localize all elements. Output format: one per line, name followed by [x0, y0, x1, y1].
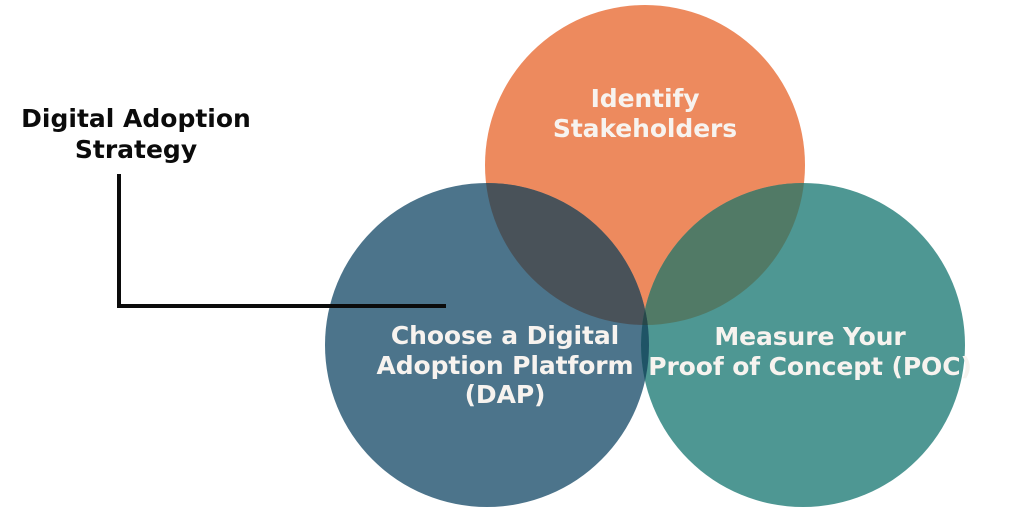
venn-circles-group: [0, 0, 1024, 513]
callout-title-digital-adoption-strategy: Digital Adoption Strategy: [6, 103, 266, 165]
callout-leader-line-vertical: [117, 174, 121, 308]
callout-leader-line-horizontal: [117, 304, 446, 308]
venn-diagram-canvas: Identify Stakeholders Choose a Digital A…: [0, 0, 1024, 513]
